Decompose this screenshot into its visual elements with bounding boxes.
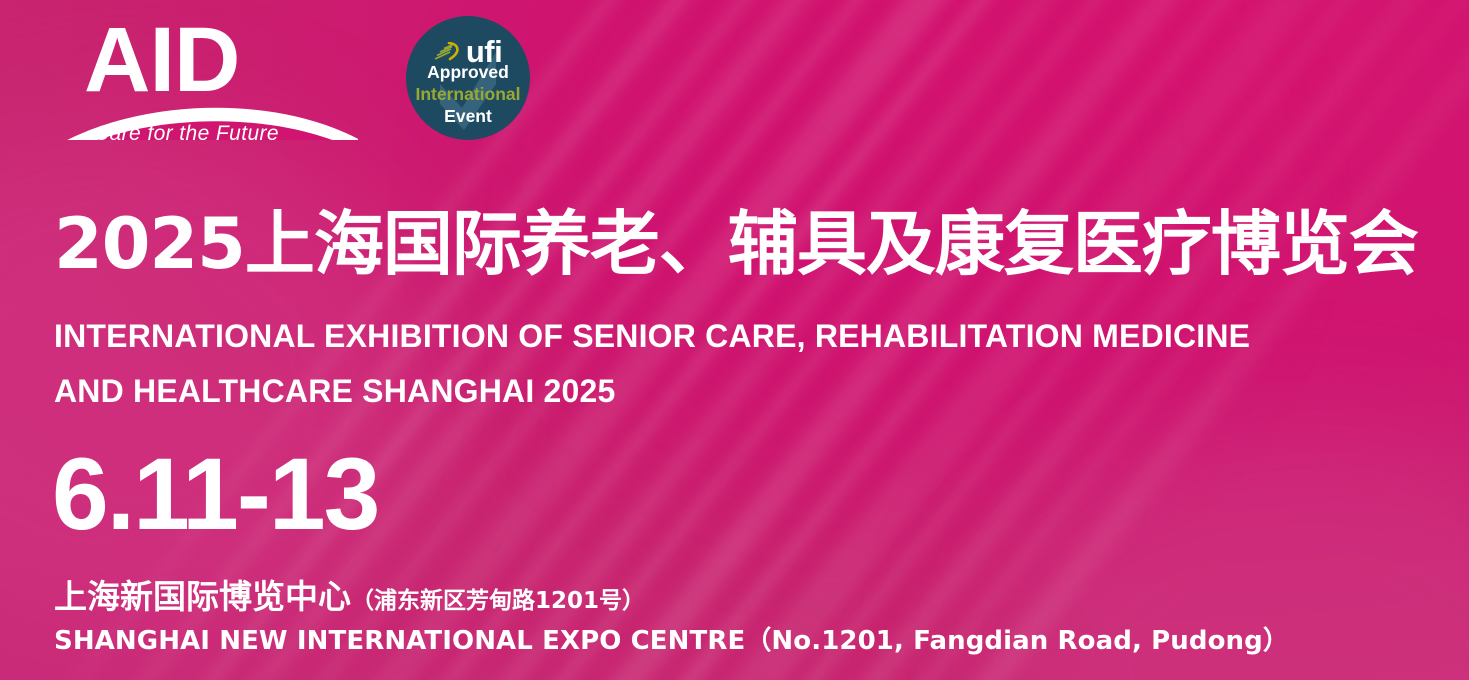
event-date: 6.11-13: [52, 443, 378, 545]
subtitle-english-line1: INTERNATIONAL EXHIBITION OF SENIOR CARE,…: [54, 320, 1250, 352]
ufi-badge-line-international: International: [406, 86, 530, 104]
venue-chinese-name: 上海新国际博览中心: [54, 570, 351, 618]
ufi-approved-badge[interactable]: ufi Approved International Event: [406, 16, 530, 140]
ufi-swoosh-icon: [434, 42, 464, 62]
ufi-badge-line-event: Event: [406, 108, 530, 126]
venue-chinese-address: （浦东新区芳甸路1201号）: [351, 581, 645, 615]
aid-logo[interactable]: AID Care for the Future: [58, 18, 358, 140]
aid-tagline: Care for the Future: [94, 122, 279, 146]
venue-chinese: 上海新国际博览中心 （浦东新区芳甸路1201号）: [54, 570, 645, 618]
event-banner: AID Care for the Future ufi Approved Int…: [0, 0, 1469, 680]
ufi-badge-line-approved: Approved: [406, 64, 530, 82]
page-title-chinese: 2025上海国际养老、辅具及康复医疗博览会: [54, 206, 1418, 283]
subtitle-english-line2: AND HEALTHCARE SHANGHAI 2025: [54, 375, 616, 407]
venue-english: SHANGHAI NEW INTERNATIONAL EXPO CENTRE（N…: [54, 620, 1289, 657]
